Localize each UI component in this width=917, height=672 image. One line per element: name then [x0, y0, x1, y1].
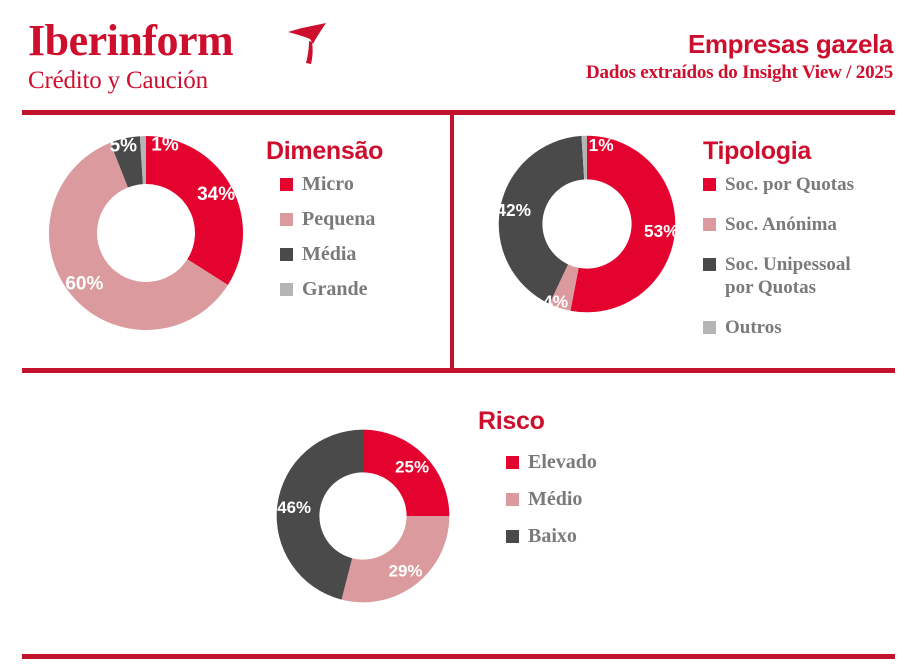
legend-item-label: Pequena — [302, 208, 375, 231]
donut-value-label: 53% — [644, 221, 678, 241]
donut-value-label: 29% — [389, 561, 423, 580]
legend-item-label: Baixo — [528, 525, 577, 548]
donut-slice — [342, 516, 450, 602]
legend-swatch-icon — [703, 258, 716, 271]
donut-value-label: 42% — [496, 200, 531, 220]
legend-item[interactable]: Pequena — [280, 208, 375, 231]
legend-item[interactable]: Média — [280, 243, 375, 266]
legend-item-label: Soc. Unipessoal por Quotas — [725, 253, 851, 299]
legend-item-label: Micro — [302, 173, 354, 196]
logo-subtitle: Crédito y Caución — [28, 66, 328, 96]
legend-item[interactable]: Micro — [280, 173, 375, 196]
donut-slice — [146, 136, 243, 285]
donut-value-label: 34% — [197, 184, 235, 205]
legend-item-label: Outros — [725, 316, 782, 339]
legend-swatch-icon — [506, 456, 519, 469]
legend-item[interactable]: Soc. por Quotas — [703, 173, 854, 196]
logo-wordmark: Iberinform — [28, 18, 233, 64]
chart-title-dimensao: Dimensão — [266, 137, 383, 166]
legend-swatch-icon — [280, 178, 293, 191]
legend-item[interactable]: Médio — [506, 488, 597, 511]
donut-value-label: 25% — [395, 457, 429, 476]
legend-item-label: Soc. Anónima — [725, 213, 837, 236]
divider-bottom — [22, 654, 895, 659]
legend-item-label: Soc. por Quotas — [725, 173, 854, 196]
chart-title-risco: Risco — [478, 407, 545, 436]
donut-value-label: 4% — [543, 292, 568, 312]
donut-chart-dimensao: 34%60%5%1% — [46, 133, 246, 333]
legend-swatch-icon — [703, 178, 716, 191]
legend-dimensao: MicroPequenaMédiaGrande — [280, 173, 375, 313]
chart-panel-dimensao: 34%60%5%1% Dimensão MicroPequenaMédiaGra… — [0, 115, 450, 368]
donut-chart-tipologia: 53%4%42%1% — [496, 133, 678, 315]
legend-item[interactable]: Grande — [280, 278, 375, 301]
chart-title-tipologia: Tipologia — [703, 137, 811, 166]
legend-item[interactable]: Elevado — [506, 451, 597, 474]
legend-item[interactable]: Soc. Unipessoal por Quotas — [703, 253, 854, 299]
legend-swatch-icon — [280, 213, 293, 226]
legend-swatch-icon — [506, 530, 519, 543]
legend-item[interactable]: Outros — [703, 316, 854, 339]
legend-item-label: Médio — [528, 488, 582, 511]
legend-swatch-icon — [703, 218, 716, 231]
swoosh-arrow-icon — [286, 22, 334, 66]
legend-swatch-icon — [703, 321, 716, 334]
donut-value-label: 46% — [277, 498, 311, 517]
header-titles: Empresas gazela Dados extraídos do Insig… — [586, 28, 893, 86]
chart-panel-risco: 25%29%46% Risco ElevadoMédioBaixo — [0, 373, 917, 654]
legend-item-label: Elevado — [528, 451, 597, 474]
brand-logo: Iberinform Crédito y Caución — [28, 18, 328, 96]
donut-value-label: 5% — [110, 135, 138, 156]
donut-chart-risco: 25%29%46% — [274, 427, 452, 605]
legend-item-label: Grande — [302, 278, 368, 301]
page-title: Empresas gazela — [586, 28, 893, 60]
legend-item-label: Média — [302, 243, 356, 266]
legend-item[interactable]: Baixo — [506, 525, 597, 548]
legend-item[interactable]: Soc. Anónima — [703, 213, 854, 236]
chart-panel-tipologia: 53%4%42%1% Tipologia Soc. por QuotasSoc.… — [454, 115, 917, 368]
legend-risco: ElevadoMédioBaixo — [506, 451, 597, 562]
donut-value-label: 60% — [65, 273, 103, 294]
infographic-page: Iberinform Crédito y Caución Empresas ga… — [0, 0, 917, 672]
legend-swatch-icon — [506, 493, 519, 506]
legend-swatch-icon — [280, 248, 293, 261]
legend-swatch-icon — [280, 283, 293, 296]
donut-value-label: 1% — [589, 135, 614, 155]
donut-value-label: 1% — [151, 135, 179, 156]
page-subtitle: Dados extraídos do Insight View / 2025 — [586, 60, 893, 86]
legend-tipologia: Soc. por QuotasSoc. AnónimaSoc. Unipesso… — [703, 173, 854, 356]
